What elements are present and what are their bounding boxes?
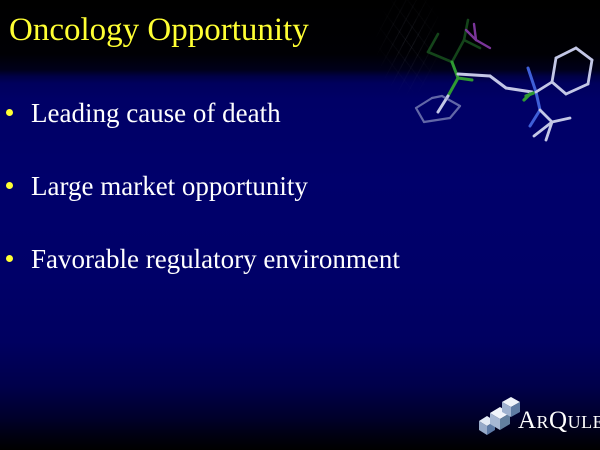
logo-wordmark: ArQule [518,408,600,433]
bullet-text: Leading cause of death [31,100,281,127]
slide-title: Oncology Opportunity [9,14,309,47]
list-item: Leading cause of death [0,100,600,173]
presentation-slide: Oncology Opportunity Leading cause of de… [0,0,600,450]
list-item: Favorable regulatory environment [0,246,600,319]
bullet-text: Favorable regulatory environment [31,246,400,273]
bullet-marker-icon [6,109,13,116]
bullet-marker-icon [6,182,13,189]
list-item: Large market opportunity [0,173,600,246]
arqule-logo: ArQule [478,396,596,444]
bullet-text: Large market opportunity [31,173,308,200]
bullet-marker-icon [6,255,13,262]
bullet-list: Leading cause of death Large market oppo… [0,100,600,319]
